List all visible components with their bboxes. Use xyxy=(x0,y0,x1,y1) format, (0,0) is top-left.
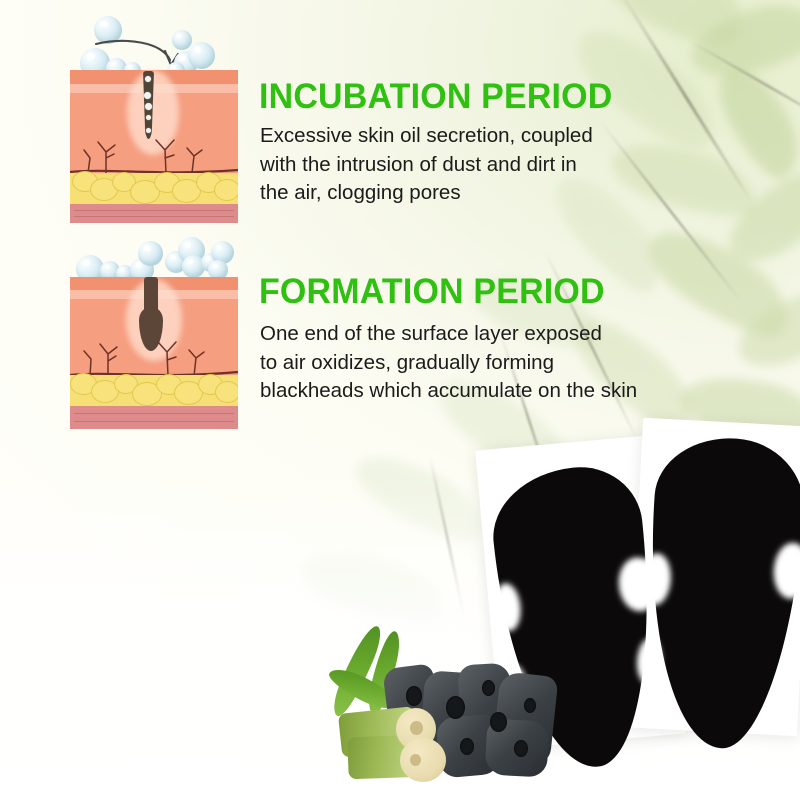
sebum-particle xyxy=(145,103,152,110)
body-line: One end of the surface layer exposed xyxy=(260,320,637,349)
ingredient-photo-bamboo-charcoal xyxy=(318,620,583,800)
body-line: the air, clogging pores xyxy=(260,179,593,208)
capillary-network xyxy=(70,331,238,379)
illustration-incubation xyxy=(70,8,238,223)
body-line: blackheads which accumulate on the skin xyxy=(260,377,637,406)
bubble xyxy=(188,42,215,69)
capillary-network xyxy=(70,128,238,176)
sebum-particle xyxy=(146,115,151,120)
nose-strip xyxy=(637,433,800,753)
heading-formation: FORMATION PERIOD xyxy=(259,272,605,312)
heading-incubation: INCUBATION PERIOD xyxy=(259,77,613,117)
body-formation: One end of the surface layer exposed to … xyxy=(260,320,637,406)
body-incubation: Excessive skin oil secretion, coupled wi… xyxy=(260,122,593,208)
body-line: Excessive skin oil secretion, coupled xyxy=(260,122,593,151)
sebum-particle xyxy=(145,76,151,82)
sebum-particle xyxy=(144,92,151,99)
infographic-page: INCUBATION PERIOD Excessive skin oil sec… xyxy=(0,0,800,800)
muscle-layer xyxy=(70,406,238,429)
illustration-formation xyxy=(70,233,238,429)
bubble xyxy=(138,241,163,266)
bamboo-cut-face xyxy=(400,738,446,782)
body-line: with the intrusion of dust and dirt in xyxy=(260,151,593,180)
muscle-layer xyxy=(70,204,238,223)
body-line: to air oxidizes, gradually forming xyxy=(260,349,637,378)
